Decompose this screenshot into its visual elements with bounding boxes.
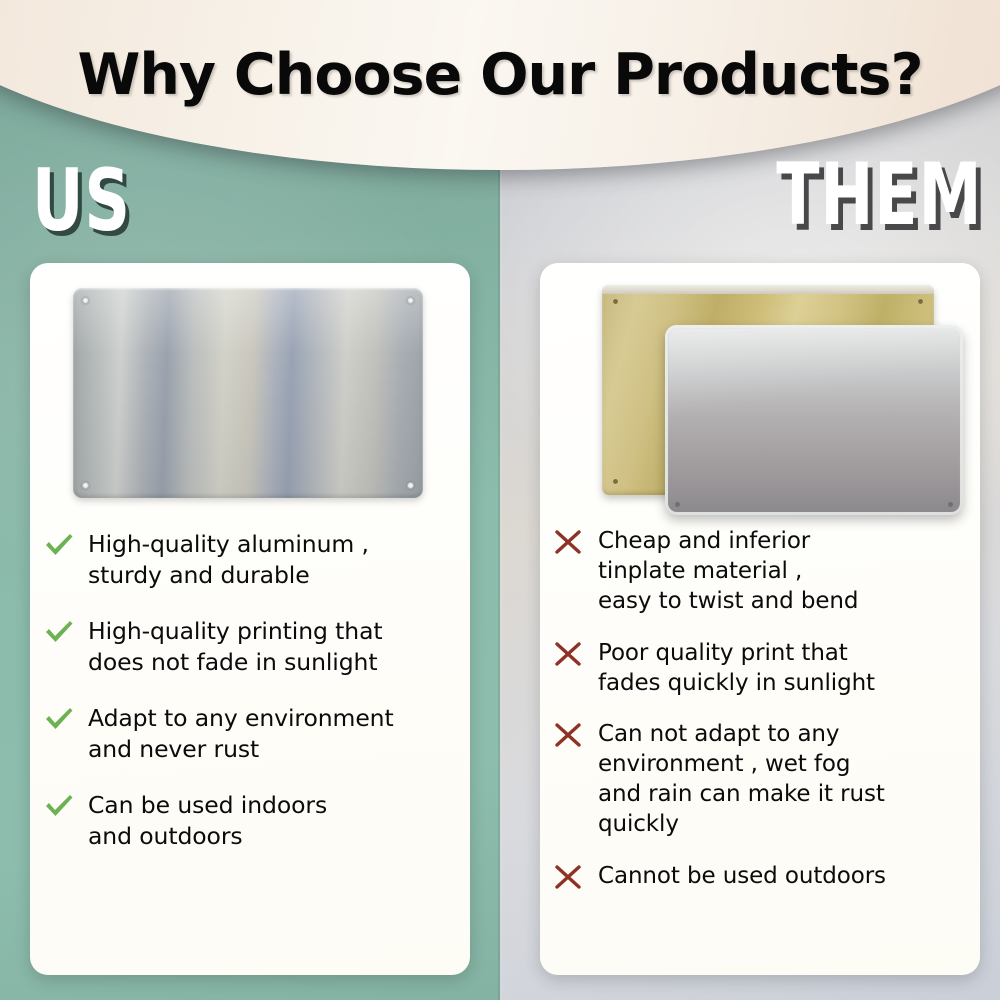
list-item: Cheap and inferior tinplate material , e… — [554, 527, 962, 617]
mounting-hole-icon — [407, 297, 414, 304]
them-product-image — [540, 263, 980, 525]
list-item-text: Can not adapt to any environment , wet f… — [598, 720, 962, 840]
us-card: High-quality aluminum , sturdy and durab… — [30, 263, 470, 975]
list-item: High-quality printing that does not fade… — [44, 616, 452, 677]
list-item: Poor quality print that fades quickly in… — [554, 639, 962, 699]
cross-icon — [554, 862, 598, 891]
list-item-text: Cannot be used outdoors — [598, 862, 962, 892]
list-item-text: Cheap and inferior tinplate material , e… — [598, 527, 962, 617]
mounting-hole-icon — [613, 299, 618, 304]
mounting-hole-icon — [82, 482, 89, 489]
plate-rim — [602, 285, 934, 294]
mounting-hole-icon — [613, 479, 618, 484]
check-icon — [44, 616, 88, 645]
cross-icon — [554, 720, 598, 749]
list-item-text: Adapt to any environment and never rust — [88, 703, 452, 764]
list-item: Can not adapt to any environment , wet f… — [554, 720, 962, 840]
heading-us: US — [32, 158, 131, 244]
cross-icon — [554, 639, 598, 668]
mounting-hole-icon — [82, 297, 89, 304]
check-icon — [44, 529, 88, 558]
mounting-hole-icon — [675, 502, 680, 507]
them-card: Cheap and inferior tinplate material , e… — [540, 263, 980, 975]
check-icon — [44, 703, 88, 732]
list-item-text: High-quality printing that does not fade… — [88, 616, 452, 677]
list-item-text: High-quality aluminum , sturdy and durab… — [88, 529, 452, 590]
mounting-hole-icon — [918, 299, 923, 304]
mounting-hole-icon — [407, 482, 414, 489]
check-icon — [44, 790, 88, 819]
mounting-hole-icon — [948, 502, 953, 507]
list-item-text: Poor quality print that fades quickly in… — [598, 639, 962, 699]
list-item: Cannot be used outdoors — [554, 862, 962, 892]
us-benefit-list: High-quality aluminum , sturdy and durab… — [30, 525, 470, 877]
us-product-image — [30, 263, 470, 525]
page-title: Why Choose Our Products? — [0, 42, 1000, 108]
them-drawback-list: Cheap and inferior tinplate material , e… — [540, 525, 980, 914]
heading-them: THEM — [776, 152, 982, 238]
list-item: Adapt to any environment and never rust — [44, 703, 452, 764]
list-item: Can be used indoors and outdoors — [44, 790, 452, 851]
comparison-infographic: Why Choose Our Products? US THEM High-qu… — [0, 0, 1000, 1000]
cross-icon — [554, 527, 598, 556]
list-item-text: Can be used indoors and outdoors — [88, 790, 452, 851]
aluminum-plate-icon — [73, 288, 423, 498]
grey-tinplate-icon — [665, 325, 963, 515]
list-item: High-quality aluminum , sturdy and durab… — [44, 529, 452, 590]
